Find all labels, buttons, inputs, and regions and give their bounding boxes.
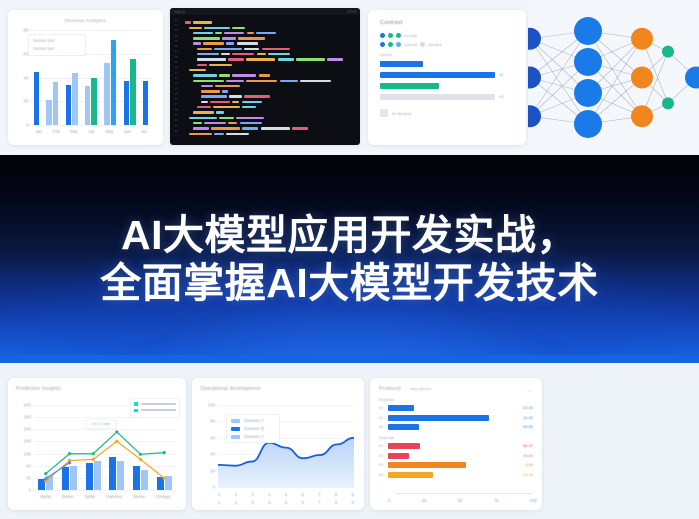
products-bar-card: Products time period ⋯ Revenue0122.10021…: [370, 378, 542, 510]
bar: [46, 100, 52, 125]
neural-network-top: [528, 0, 699, 155]
combo-chart-title: Prediction Insights: [16, 386, 180, 392]
x-tick-label: 100: [530, 498, 537, 503]
legend-label-1: normal: [404, 33, 417, 38]
line-number: 20: [170, 118, 181, 122]
x-tick-label: 25: [422, 498, 427, 503]
code-token: [193, 32, 213, 34]
contrast-bar-row: [380, 61, 514, 67]
y-tick-label: 0: [26, 123, 29, 128]
code-token: [228, 122, 237, 124]
row-label: 03: [379, 463, 385, 467]
code-tokens: [181, 122, 252, 140]
code-token: [226, 133, 249, 135]
code-token: [242, 101, 262, 103]
code-token: [193, 74, 217, 76]
bar: [38, 479, 45, 490]
products-bar-row: 0443.16: [379, 472, 533, 478]
code-token: [210, 101, 230, 103]
legend-swatch-2: [134, 409, 138, 413]
code-token: [292, 127, 308, 129]
line-number: 03: [170, 28, 181, 32]
line-number: 06: [170, 44, 181, 48]
contrast-title: Contrast: [380, 20, 514, 26]
bar: [111, 40, 117, 126]
banner-line-2: 全面掌握AI大模型开发技术: [100, 259, 599, 307]
y-tick-label: 100: [24, 451, 32, 456]
code-token: [261, 127, 290, 129]
row-label: 01: [379, 444, 385, 448]
line-number: 21: [170, 124, 181, 128]
x-axis-labels: AlphaBravoDeltaGammaSierraOmega: [34, 490, 176, 499]
x-tick-label-secondary: 8: [335, 500, 337, 505]
line-number: 07: [170, 49, 181, 53]
model-swatch: [380, 109, 388, 117]
chart-title: Revenue Analytics: [65, 18, 106, 23]
code-token: [201, 90, 220, 92]
bar: [117, 461, 124, 490]
y-tick-label: 20: [23, 99, 28, 104]
row-value: 12.00: [523, 416, 533, 420]
gridline: [218, 487, 354, 488]
x-tick-label: Gamma: [106, 494, 122, 499]
products-xaxis-line: [395, 493, 533, 494]
contrast-bar-row: 88: [380, 72, 514, 78]
contrast-card: Contrast normal normal denied values 880…: [368, 10, 526, 145]
row-value: 88.20: [523, 444, 533, 448]
contrast-footer-label: AI Models: [392, 111, 412, 116]
y-tick-label: 300: [24, 403, 32, 408]
products-bar-row: 0212.00: [379, 415, 533, 421]
x-tick-label: Delta: [85, 494, 95, 499]
line-number: 11: [170, 71, 181, 75]
nn-node: [662, 46, 674, 58]
x-tick-label: Alpha: [40, 494, 51, 499]
code-token: [226, 42, 234, 44]
x-tick-label-secondary: 7: [318, 500, 320, 505]
x-tick-label: 1: [218, 492, 220, 497]
contrast-bar-list: 8805: [380, 61, 514, 100]
legend-dot-blue: [380, 33, 385, 38]
bar-group: [104, 30, 116, 125]
row-label: 02: [379, 454, 385, 458]
line-number: 02: [170, 23, 181, 27]
combo-chart-legend: [130, 398, 180, 418]
contrast-legend-row-2: normal denied: [380, 42, 514, 47]
row-bar: [388, 462, 466, 468]
x-tick-label: 50: [458, 498, 463, 503]
products-header: Products time period: [379, 386, 533, 392]
legend-swatch-1: [231, 419, 240, 423]
bar: [141, 470, 148, 490]
x-tick-label: 5: [285, 492, 287, 497]
area-chart-xaxis: 123456789: [218, 492, 354, 497]
legend-bar-1: [141, 403, 177, 405]
bar: [86, 463, 93, 490]
code-token: [219, 74, 230, 76]
legend-item-1: Series one: [33, 38, 81, 43]
code-token: [203, 42, 224, 44]
row-value: 8.08: [525, 463, 533, 467]
legend-item-1: [134, 402, 176, 406]
contrast-bar-track: [380, 72, 495, 78]
code-token: [201, 95, 227, 97]
products-section-label-2: Expense: [379, 436, 533, 440]
banner-line-1: AI大模型应用开发实战，: [121, 211, 578, 259]
legend-dot-green: [388, 33, 393, 38]
products-bar-row: 038.08: [379, 462, 533, 468]
area-chart-legend: Dataset A Dataset B Dataset C: [226, 414, 280, 443]
legend-item-2: Series two: [33, 46, 81, 51]
x-tick-label-secondary: 4: [268, 500, 270, 505]
x-tick-label: Sierra: [133, 494, 145, 499]
bar: [70, 466, 77, 490]
row-label: 01: [379, 406, 385, 410]
code-token: [204, 27, 230, 29]
code-token: [215, 85, 240, 87]
x-tick-label: Apr: [88, 129, 95, 134]
operational-development-card: Operational development 100806040200 Dat…: [192, 378, 364, 510]
code-token: [214, 133, 224, 135]
bottom-panel-row: Prediction Insights 241.2 total 30025020…: [0, 363, 699, 519]
bar: [94, 461, 101, 490]
line-number: 14: [170, 87, 181, 91]
code-token: [296, 58, 325, 60]
code-token: [197, 64, 207, 66]
code-token: [193, 127, 209, 129]
code-token: [226, 80, 244, 82]
products-bar-row: 0309.00: [379, 424, 533, 430]
code-token: [193, 21, 212, 23]
line-number: 09: [170, 60, 181, 64]
bar-group: [38, 405, 53, 490]
line-number: 05: [170, 39, 181, 43]
code-token: [246, 80, 277, 82]
legend-bar-2: [141, 409, 177, 411]
legend-item-2: Dataset B: [231, 426, 275, 431]
code-token: [242, 127, 258, 129]
nn-node: [662, 97, 674, 109]
line-number: 22: [170, 129, 181, 133]
bar-group: [124, 30, 136, 125]
x-tick-label: 4: [268, 492, 270, 497]
nn-node: [574, 79, 602, 107]
code-token: [204, 122, 226, 124]
row-bar: [388, 443, 420, 449]
line-number: 18: [170, 108, 181, 112]
ellipsis-icon[interactable]: ⋯: [527, 389, 532, 395]
bar-group: [86, 405, 101, 490]
products-xaxis-ticks: 0255075100: [388, 498, 537, 503]
x-tick-label: Mar: [70, 129, 78, 134]
bar: [104, 63, 110, 125]
x-tick-label: Jun: [124, 129, 131, 134]
nn-node: [685, 67, 699, 89]
contrast-bar-value: 88: [499, 73, 504, 77]
x-tick-label-secondary: 1: [218, 500, 220, 505]
hero-banner: AI大模型应用开发实战， 全面掌握AI大模型开发技术: [0, 155, 699, 363]
x-tick-label-secondary: 6: [301, 500, 303, 505]
legend-item-3: Dataset C: [231, 434, 275, 439]
legend-label-1: Dataset A: [244, 418, 264, 423]
x-tick-label-secondary: 9: [352, 500, 354, 505]
line-number: 08: [170, 55, 181, 59]
row-value: 18.24: [523, 454, 533, 458]
row-bar: [388, 453, 409, 459]
x-tick-label: Omega: [156, 494, 170, 499]
line-number: 12: [170, 76, 181, 80]
x-tick-label: Jul: [141, 129, 147, 134]
code-editor-panel[interactable]: main.py UTF-8 01020304050607080910111213…: [170, 8, 360, 145]
products-bar-row: 0218.24: [379, 453, 533, 459]
code-token: [262, 48, 290, 50]
nn-node: [528, 105, 541, 127]
code-token: [189, 133, 212, 135]
code-token: [189, 117, 217, 119]
row-value: 22.10: [523, 406, 533, 410]
nn-node: [631, 28, 653, 50]
contrast-footer: AI Models: [380, 109, 514, 117]
x-tick-label: Bravo: [62, 494, 73, 499]
bar: [109, 457, 116, 490]
y-tick-label: 200: [24, 427, 32, 432]
bar: [91, 78, 97, 126]
bar: [124, 81, 130, 125]
area-chart-xaxis-secondary: 123456789: [218, 500, 354, 505]
products-subtitle: time period: [410, 387, 431, 391]
code-token: [256, 32, 276, 34]
code-token: [278, 58, 294, 60]
nn-node: [574, 48, 602, 76]
code-token: [244, 95, 270, 97]
legend-label-3: denied: [428, 42, 441, 47]
legend-dot-grey: [420, 42, 425, 47]
y-tick-label: 0: [213, 485, 216, 490]
revenue-bar-chart-card: Revenue Analytics 806040200JanFebMarAprM…: [8, 10, 163, 145]
code-token: [189, 69, 206, 71]
products-title: Products: [379, 386, 401, 392]
contrast-legend-row-1: normal: [380, 33, 514, 38]
code-token: [211, 127, 240, 129]
x-tick-label: 75: [494, 498, 499, 503]
legend-label-2: normal: [404, 42, 417, 47]
x-tick-label: 3: [251, 492, 253, 497]
products-bar-list: Revenue0122.100212.000309.00Expense0188.…: [379, 398, 533, 478]
code-token: [214, 48, 242, 50]
bar-group: [62, 405, 77, 490]
code-token: [193, 122, 202, 124]
code-token: [237, 42, 258, 44]
row-label: 02: [379, 416, 385, 420]
top-panel-row: Revenue Analytics 806040200JanFebMarAprM…: [0, 0, 699, 155]
legend-dot-blue-2: [380, 42, 385, 47]
products-bar-row: 0188.20: [379, 443, 533, 449]
y-tick-label: 250: [24, 415, 32, 420]
neural-network-svg: [528, 0, 699, 155]
code-token: [232, 74, 256, 76]
bar: [66, 85, 72, 125]
line-number: 04: [170, 34, 181, 38]
nn-node: [631, 105, 653, 127]
code-token: [193, 80, 224, 82]
y-tick-label: 20: [210, 468, 215, 473]
y-tick-label: 80: [210, 419, 215, 424]
x-tick-label: 9: [352, 492, 354, 497]
y-tick-label: 25: [26, 475, 31, 480]
bar: [157, 477, 164, 490]
contrast-section-label: values: [380, 53, 514, 57]
poster-canvas: Revenue Analytics 806040200JanFebMarAprM…: [0, 0, 699, 519]
code-token: [201, 85, 213, 87]
row-bar: [388, 415, 489, 421]
legend-dot-green-2: [396, 33, 401, 38]
line-number: 13: [170, 81, 181, 85]
bar: [165, 476, 172, 490]
x-tick-label-secondary: 2: [235, 500, 237, 505]
row-value: 43.16: [523, 473, 533, 477]
legend-dot-lightblue: [396, 42, 401, 47]
code-token: [244, 48, 259, 50]
code-token: [259, 74, 270, 76]
code-token: [232, 27, 245, 29]
x-tick-label: May: [105, 129, 113, 134]
code-token: [228, 58, 244, 60]
row-bar: [388, 472, 433, 478]
legend-swatch-3: [231, 435, 240, 439]
code-token: [300, 80, 331, 82]
y-tick-label: 100: [208, 403, 216, 408]
area-chart-title: Operational development: [200, 386, 356, 392]
code-token: [209, 64, 232, 66]
y-tick-label: 80: [23, 28, 28, 33]
line-number: 01: [170, 18, 181, 22]
code-token: [238, 37, 265, 39]
bar: [133, 466, 140, 490]
code-token: [197, 48, 212, 50]
code-token: [232, 101, 239, 103]
legend-label-2: Dataset B: [244, 426, 264, 431]
code-token: [185, 21, 191, 23]
legend-swatch-2: [231, 427, 240, 431]
x-axis-labels: JanFebMarAprMayJunJul: [30, 125, 152, 134]
y-tick-label: 60: [210, 435, 215, 440]
row-label: 04: [379, 473, 385, 477]
legend-dot-green-3: [388, 42, 393, 47]
bar: [130, 59, 136, 126]
code-token: [327, 58, 343, 60]
bar-group: [85, 30, 97, 125]
nn-node: [574, 17, 602, 45]
contrast-bar-value: 05: [499, 95, 504, 99]
bar: [62, 467, 69, 490]
line-number: 10: [170, 65, 181, 69]
code-token: [201, 101, 208, 103]
code-token: [193, 37, 220, 39]
row-bar: [388, 405, 414, 411]
line-number: 19: [170, 113, 181, 117]
line-number: 16: [170, 97, 181, 101]
legend-item-2: [134, 409, 176, 413]
code-token: [215, 32, 222, 34]
x-tick-label: 6: [301, 492, 303, 497]
nn-node: [631, 67, 653, 89]
line-number: 17: [170, 102, 181, 106]
code-status: UTF-8: [347, 10, 356, 14]
bar: [143, 81, 149, 125]
code-token: [246, 58, 275, 60]
nn-node: [528, 28, 541, 50]
bar: [85, 86, 91, 125]
y-tick-label: 50: [26, 463, 31, 468]
code-token: [247, 32, 254, 34]
chart-legend: Series one Series two: [28, 34, 86, 56]
prediction-insights-card: Prediction Insights 241.2 total 30025020…: [8, 378, 186, 510]
code-token: [193, 42, 201, 44]
legend-label-3: Dataset C: [244, 434, 264, 439]
bar-group: [109, 405, 124, 490]
x-tick-label: Feb: [52, 129, 60, 134]
x-tick-label: 0: [388, 498, 390, 503]
code-token: [240, 122, 262, 124]
y-tick-label: 150: [24, 439, 32, 444]
code-token: [236, 117, 264, 119]
x-tick-label: 7: [318, 492, 320, 497]
x-tick-label: 8: [335, 492, 337, 497]
y-tick-label: 40: [210, 452, 215, 457]
bar: [53, 82, 59, 125]
code-token: [219, 117, 234, 119]
code-token: [193, 111, 214, 113]
legend-item-1: Dataset A: [231, 418, 275, 423]
row-bar: [388, 424, 419, 430]
bar: [46, 476, 53, 490]
nn-node: [528, 67, 541, 89]
code-token: [224, 32, 244, 34]
code-filename: main.py: [174, 10, 185, 14]
code-token: [189, 27, 202, 29]
products-section-label-1: Revenue: [379, 398, 533, 402]
code-token: [197, 58, 226, 60]
x-tick-label-secondary: 3: [251, 500, 253, 505]
y-tick-label: 0: [29, 488, 32, 493]
nn-node: [574, 110, 602, 138]
code-token: [222, 37, 236, 39]
contrast-bar-track: [380, 83, 439, 89]
legend-swatch-1: [134, 402, 138, 406]
x-tick-label: 2: [235, 492, 237, 497]
bar: [72, 73, 78, 125]
code-token: [229, 95, 242, 97]
code-editor-body[interactable]: 0102030405060708091011121314151617181920…: [170, 15, 360, 136]
contrast-bar-track: [380, 94, 495, 100]
code-token: [216, 111, 224, 113]
bar-group: [143, 30, 149, 125]
code-token: [222, 90, 228, 92]
x-tick-label-secondary: 5: [285, 500, 287, 505]
x-tick-label: Jan: [35, 129, 42, 134]
contrast-bar-track: [380, 61, 423, 67]
contrast-bar-row: [380, 83, 514, 89]
banner-accent-bar: [0, 355, 699, 363]
y-tick-label: 40: [23, 75, 28, 80]
code-token: [280, 80, 298, 82]
bar: [34, 72, 40, 125]
row-value: 09.00: [523, 425, 533, 429]
row-label: 03: [379, 425, 385, 429]
contrast-bar-row: 05: [380, 94, 514, 100]
products-bar-row: 0122.10: [379, 405, 533, 411]
line-number: 15: [170, 92, 181, 96]
